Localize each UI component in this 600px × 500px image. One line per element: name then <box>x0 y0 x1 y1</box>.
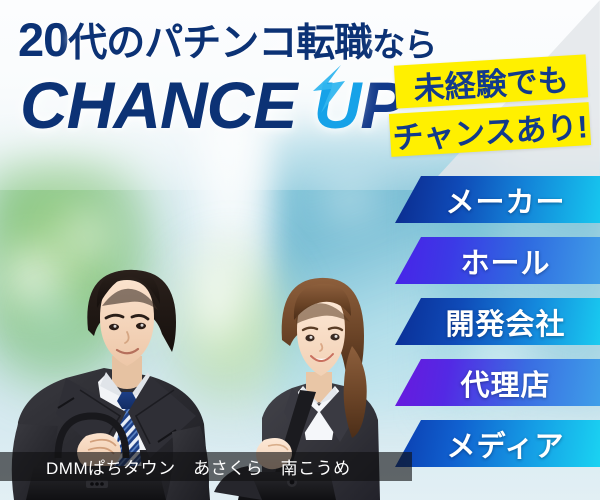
category-label: メディア <box>395 423 600 465</box>
category-label: 代理店 <box>395 362 600 404</box>
headline-lead-suffix: なら <box>372 26 436 63</box>
photo-subjects <box>0 140 430 500</box>
category-button-media[interactable]: メディア <box>395 420 600 467</box>
credit-bar: DMMぱちタウン あさくら 南こうめ <box>0 452 412 481</box>
recruitment-banner-ad[interactable]: 20代のパチンコ転職なら CHANCE UP 未経験でも チャンスあり! メーカ… <box>0 0 600 500</box>
category-label: 開発会社 <box>395 301 600 343</box>
category-button-development-company[interactable]: 開発会社 <box>395 298 600 345</box>
credit-text: DMMぱちタウン あさくら 南こうめ <box>0 454 351 479</box>
category-button-list: メーカー ホール 開発会社 代理店 メディア <box>395 176 600 467</box>
tag-label: 未経験でも <box>412 54 569 108</box>
category-button-agency[interactable]: 代理店 <box>395 359 600 406</box>
category-button-hall[interactable]: ホール <box>395 237 600 284</box>
logo-chance-up: CHANCE UP <box>20 72 403 138</box>
headline-lead-rest: 代のパチンコ転職 <box>68 22 372 65</box>
logo-letter-u: U <box>314 68 361 142</box>
headline-line-1: 20代のパチンコ転職なら <box>18 16 436 66</box>
logo-chance-word: CHANCE <box>20 68 314 142</box>
headline-lead-number: 20 <box>18 13 68 66</box>
category-label: ホール <box>395 240 600 282</box>
category-label: メーカー <box>395 179 600 221</box>
category-button-maker[interactable]: メーカー <box>395 176 600 223</box>
